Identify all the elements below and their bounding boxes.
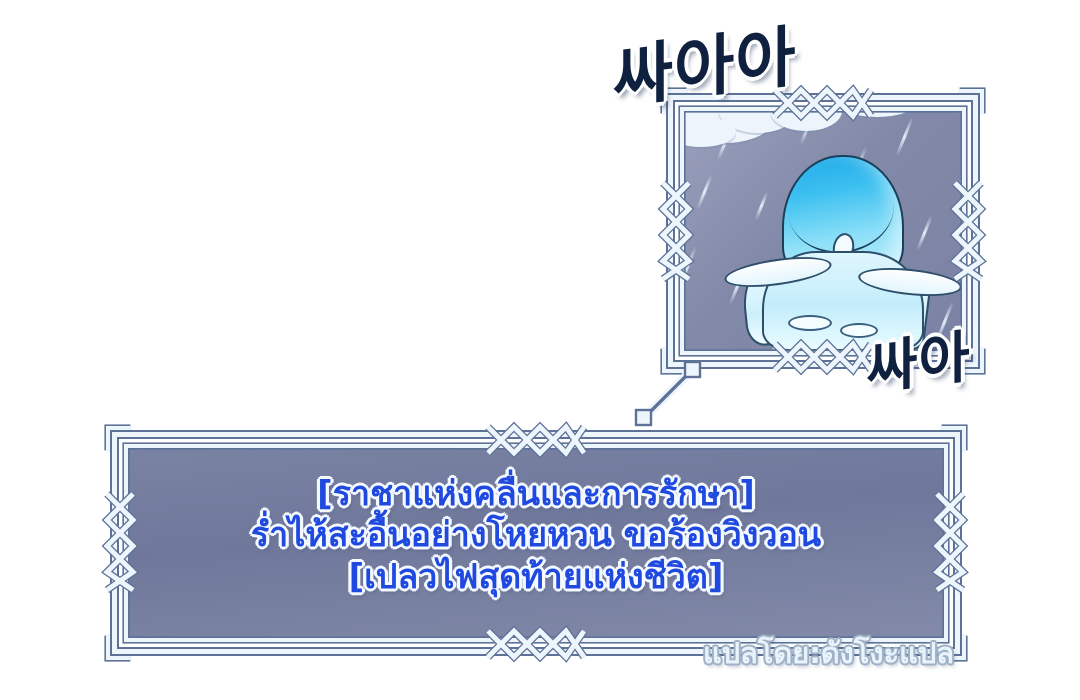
sound-effect-bottom: 싸아 <box>866 311 970 405</box>
comic-page: [ราชาแห่งคลื่นและการรักษา] ร่ำไห้สะอื้นอ… <box>0 0 1080 700</box>
panel-corner-top-right <box>958 89 984 115</box>
dialogue-box: [ราชาแห่งคลื่นและการรักษา] ร่ำไห้สะอื้นอ… <box>112 432 960 654</box>
dialogue-corner-bottom-left <box>106 634 132 660</box>
dialogue-frame-inner <box>124 444 948 642</box>
translator-credit: แปลโดย:ดังโงะแปล <box>703 630 954 676</box>
dialogue-corner-top-right <box>940 426 966 452</box>
dialogue-corner-top-left <box>106 426 132 452</box>
